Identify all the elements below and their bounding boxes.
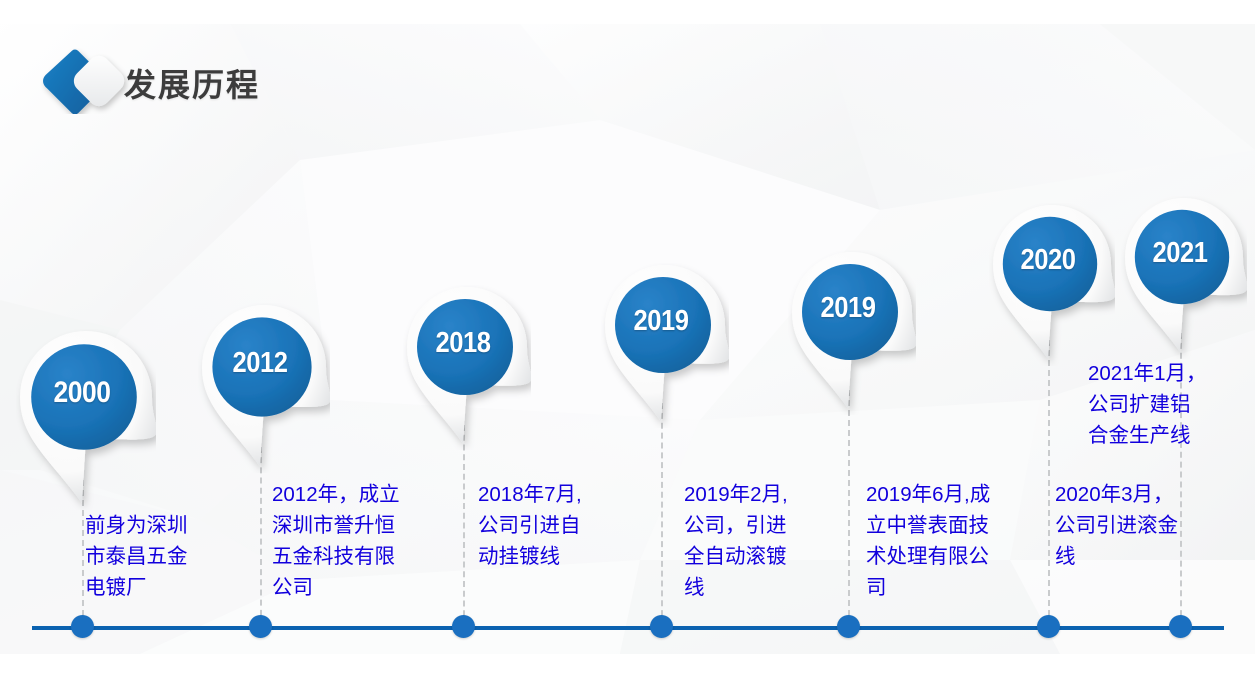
pin-connector-line: [463, 425, 465, 626]
axis-dot[interactable]: [650, 615, 673, 638]
pin-shell: [16, 329, 156, 510]
pin-shell: [989, 203, 1115, 366]
timeline-pin-2000-0[interactable]: 2000: [16, 329, 148, 502]
milestone-description: 2019年2月, 公司，引进 全自动滚镀 线: [684, 479, 788, 603]
pin-shell: [1121, 196, 1247, 359]
pin-connector-line: [260, 447, 262, 626]
pin-shell: [601, 263, 729, 428]
timeline-pin-2012-1[interactable]: 2012: [198, 303, 322, 465]
pin-shell: [403, 285, 531, 450]
timeline-pin-2021-6[interactable]: 2021: [1121, 196, 1239, 351]
milestone-description: 2020年3月， 公司引进滚金 线: [1055, 479, 1178, 572]
top-white-band: [0, 0, 1255, 24]
pin-shell: [198, 303, 330, 473]
slide-canvas: 发展历程 2000201220182019201920202021 前身为深圳 …: [0, 0, 1255, 699]
axis-dot[interactable]: [837, 615, 860, 638]
timeline-pin-2018-2[interactable]: 2018: [403, 285, 523, 442]
milestone-description: 2018年7月, 公司引进自 动挂镀线: [478, 479, 582, 572]
timeline-pin-2019-4[interactable]: 2019: [788, 250, 908, 407]
pin-connector-line: [848, 390, 850, 626]
milestone-description: 2019年6月,成 立中誉表面技 术处理有限公 司: [866, 479, 990, 603]
axis-dot[interactable]: [71, 615, 94, 638]
page-title: 发展历程: [124, 60, 260, 106]
axis-dot[interactable]: [1169, 615, 1192, 638]
chevron-diamond-logo-icon: [40, 48, 132, 114]
axis-dot[interactable]: [249, 615, 272, 638]
axis-dot[interactable]: [452, 615, 475, 638]
milestone-description: 前身为深圳 市泰昌五金 电镀厂: [85, 510, 188, 603]
pin-connector-line: [661, 403, 663, 626]
pin-shell: [788, 250, 916, 415]
timeline-pin-2019-3[interactable]: 2019: [601, 263, 721, 420]
slide-header: 发展历程: [0, 24, 1255, 116]
milestone-description: 2012年，成立 深圳市誉升恒 五金科技有限 公司: [272, 479, 400, 603]
axis-dot[interactable]: [1037, 615, 1060, 638]
timeline-pin-2020-5[interactable]: 2020: [989, 203, 1107, 358]
milestone-description: 2021年1月， 公司扩建铝 合金生产线: [1088, 358, 1207, 451]
pin-connector-line: [1048, 340, 1050, 626]
bottom-white-band: [0, 654, 1255, 699]
